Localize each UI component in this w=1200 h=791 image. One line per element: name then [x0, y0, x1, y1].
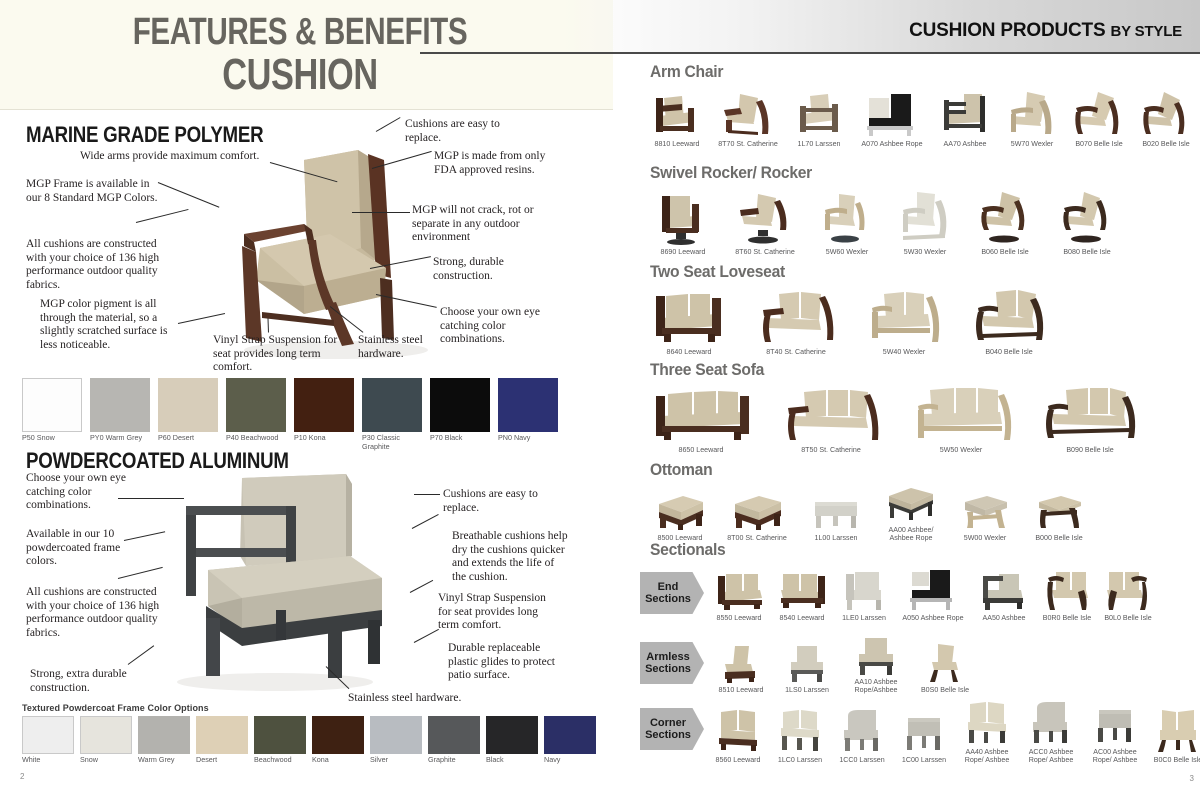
product-aa10-ashbee[interactable]: AA10 Ashbee Rope/Ashbee	[844, 636, 908, 695]
tag-end-sections: End Sections	[640, 572, 704, 614]
product-code: B000 Belle Isle	[1035, 534, 1082, 542]
product-thumbnail	[1138, 90, 1194, 138]
category-title-ottoman: Ottoman	[650, 460, 712, 480]
swatch-silver: Silver	[370, 716, 422, 765]
product-a070-ashbee-rope[interactable]: A070 Ashbee Rope	[854, 90, 930, 148]
product-5w00-wexler[interactable]: 5W00 Wexler	[950, 492, 1020, 542]
product-thumbnail	[717, 644, 765, 684]
product-code: 5W50 Wexler	[940, 446, 982, 454]
swatch-chip	[486, 716, 538, 754]
leader-line	[414, 629, 439, 643]
product-aa00-ashbee[interactable]: AA00 Ashbee/ Ashbee Rope	[876, 484, 946, 543]
swatch-p70-black: P70 Black	[430, 378, 490, 451]
product-thumbnail	[773, 708, 827, 754]
product-thumbnail	[1025, 700, 1077, 746]
product-thumbnail	[957, 492, 1013, 532]
product-thumbnail	[936, 90, 994, 138]
product-thumbnail	[718, 90, 778, 138]
callout-mgp-0: Wide arms provide maximum comfort.	[80, 150, 280, 164]
callout-pc-8: Stainless steel hardware.	[348, 692, 488, 706]
callout-pc-6: Vinyl Strap Suspension for seat provides…	[438, 592, 556, 633]
product-row-arm-chair: 8810 Leeward 8T70 St. Catherine	[644, 90, 1198, 148]
swatch-chip	[362, 378, 422, 432]
category-title-two-seat-loveseat: Two Seat Loveseat	[650, 262, 785, 282]
product-8t50-st-catherine[interactable]: 8T50 St. Catherine	[776, 386, 886, 454]
product-code: 8550 Leeward	[717, 614, 762, 622]
swatch-label: Navy	[544, 756, 596, 765]
swatch-chip	[254, 716, 306, 754]
product-thumbnail	[817, 190, 877, 246]
product-thumbnail	[651, 492, 709, 532]
swatch-navy: Navy	[544, 716, 596, 765]
product-thumbnail	[974, 190, 1036, 246]
leader-line	[410, 580, 433, 593]
swatch-label: Black	[486, 756, 538, 765]
product-thumbnail	[711, 708, 765, 754]
product-code: B090 Belle Isle	[1066, 446, 1113, 454]
product-acc0-ashbee[interactable]: ACC0 Ashbee Rope/ Ashbee	[1020, 700, 1082, 765]
swatch-pn0-navy: PN0 Navy	[498, 378, 558, 451]
product-code: 8690 Leeward	[661, 248, 706, 256]
product-8t00-st-catherine[interactable]: 8T00 St. Catherine	[718, 492, 796, 542]
product-code: B0R0 Belle Isle	[1043, 614, 1092, 622]
product-thumbnail	[773, 568, 831, 612]
mgp-color-swatches: P50 Snow PY0 Warm Grey P60 Desert P40 Be…	[22, 378, 558, 451]
swatch-black: Black	[486, 716, 538, 765]
left-page: FEATURES & BENEFITS CUSHION MARINE GRADE…	[0, 0, 620, 791]
product-thumbnail	[1031, 492, 1087, 532]
powdercoated-aluminum-chair-image	[150, 470, 400, 695]
callout-mgp-6: Cushions are easy to replace.	[405, 118, 535, 145]
product-thumbnail	[968, 288, 1050, 346]
callout-pc-5: Breathable cushions help dry the cushion…	[452, 530, 570, 584]
product-row-corner-sections: 8560 Leeward 1LC0 Larssen	[708, 700, 1200, 765]
product-thumbnail	[1101, 568, 1155, 612]
product-code: AA10 Ashbee Rope/Ashbee	[855, 678, 898, 695]
product-code: 1LC0 Larssen	[778, 756, 822, 764]
product-a050-ashbee-rope[interactable]: A050 Ashbee Rope	[895, 568, 971, 622]
product-row-two-seat-loveseat: 8640 Leeward 8T40 St. Catherine	[646, 288, 1052, 356]
callout-mgp-8: MGP will not crack, rot or separate in a…	[412, 204, 552, 245]
product-code: 8T70 St. Catherine	[718, 140, 778, 148]
swatch-chip	[196, 716, 248, 754]
product-thumbnail	[904, 568, 962, 612]
header-title-sub: BY STYLE	[1111, 23, 1182, 40]
swatch-p40-beachwood: P40 Beachwood	[226, 378, 286, 451]
product-thumbnail	[898, 708, 950, 754]
product-thumbnail	[960, 700, 1014, 746]
product-8t60-st-catherine[interactable]: 8T60 St. Catherine	[724, 190, 806, 256]
product-1lc0-larssen[interactable]: 1LC0 Larssen	[770, 708, 830, 764]
product-8t70-st-catherine[interactable]: 8T70 St. Catherine	[712, 90, 784, 148]
right-page: CUSHION PRODUCTS BY STYLE Arm Chair 8810…	[620, 0, 1200, 791]
product-thumbnail	[908, 386, 1014, 444]
product-8510-leeward[interactable]: 8510 Leeward	[712, 644, 770, 694]
swatch-chip	[312, 716, 364, 754]
swatch-chip	[22, 716, 74, 754]
product-code: 8T60 St. Catherine	[735, 248, 795, 256]
product-code: ACC0 Ashbee Rope/ Ashbee	[1029, 748, 1074, 765]
product-row-three-seat-sofa: 8650 Leeward 8T50 St. Catherine	[646, 386, 1144, 454]
product-5w50-wexler[interactable]: 5W50 Wexler	[906, 386, 1016, 454]
tag-corner-sections: Corner Sections	[640, 708, 704, 750]
leader-line	[352, 212, 410, 213]
swatch-label: Snow	[80, 756, 132, 765]
product-thumbnail	[1040, 568, 1094, 612]
swatch-label: P30 Classic Graphite	[362, 434, 422, 451]
product-5w60-wexler[interactable]: 5W60 Wexler	[810, 190, 884, 256]
swatch-label: Warm Grey	[138, 756, 190, 765]
swatch-label: P40 Beachwood	[226, 434, 286, 443]
product-thumbnail	[1056, 190, 1118, 246]
callout-mgp-7: MGP is made from only FDA approved resin…	[434, 150, 564, 177]
swatch-label: P50 Snow	[22, 434, 82, 443]
powdercoat-color-swatches: White Snow Warm Grey Desert Beachwood Ko…	[22, 716, 596, 765]
callout-pc-4: Cushions are easy to replace.	[443, 488, 553, 515]
product-thumbnail	[648, 386, 754, 444]
product-b060-belle-isle[interactable]: B060 Belle Isle	[966, 190, 1044, 256]
product-thumbnail	[648, 288, 730, 346]
callout-mgp-1: MGP Frame is available in our 8 Standard…	[26, 178, 166, 205]
swatch-chip	[138, 716, 190, 754]
product-thumbnail	[851, 636, 901, 676]
swatch-desert: Desert	[196, 716, 248, 765]
product-thumbnail	[883, 484, 939, 524]
swatch-label: Beachwood	[254, 756, 306, 765]
product-b0s0-belle-isle[interactable]: B0S0 Belle Isle	[916, 644, 974, 694]
product-5w30-wexler[interactable]: 5W30 Wexler	[888, 190, 962, 256]
swatch-graphite: Graphite	[428, 716, 480, 765]
powdercoat-swatch-heading: Textured Powdercoat Frame Color Options	[22, 703, 209, 713]
product-code: 8560 Leeward	[716, 756, 761, 764]
hero-line-2: CUSHION	[66, 52, 534, 98]
product-thumbnail	[1089, 700, 1141, 746]
product-code: 8650 Leeward	[679, 446, 724, 454]
product-thumbnail	[895, 190, 955, 246]
product-code: 5W30 Wexler	[904, 248, 946, 256]
swatch-chip	[544, 716, 596, 754]
product-5w70-wexler[interactable]: 5W70 Wexler	[1000, 90, 1064, 148]
product-code: A050 Ashbee Rope	[902, 614, 963, 622]
swatch-warm-grey: Warm Grey	[138, 716, 190, 765]
product-code: 1C00 Larssen	[902, 756, 946, 764]
product-b0l0-belle-isle[interactable]: B0L0 Belle Isle	[1098, 568, 1158, 622]
swatch-label: PN0 Navy	[498, 434, 558, 443]
swatch-white: White	[22, 716, 74, 765]
product-code: AC00 Ashbee Rope/ Ashbee	[1093, 748, 1138, 765]
product-thumbnail	[837, 568, 891, 612]
swatch-beachwood: Beachwood	[254, 716, 306, 765]
swatch-p10-kona: P10 Kona	[294, 378, 354, 451]
product-thumbnail	[1152, 708, 1200, 754]
product-8500-leeward[interactable]: 8500 Leeward	[646, 492, 714, 542]
callout-mgp-3: MGP color pigment is all through the mat…	[40, 298, 184, 352]
product-code: AA50 Ashbee	[983, 614, 1026, 622]
swatch-chip	[90, 378, 150, 432]
swatch-chip	[294, 378, 354, 432]
product-8540-leeward[interactable]: 8540 Leeward	[771, 568, 833, 622]
product-code: 5W60 Wexler	[826, 248, 868, 256]
swatch-chip	[158, 378, 218, 432]
product-thumbnail	[753, 288, 839, 346]
product-code: 8810 Leeward	[655, 140, 700, 148]
product-b000-belle-isle[interactable]: B000 Belle Isle	[1024, 492, 1094, 542]
leader-line	[136, 209, 189, 223]
callout-mgp-5: Stainless steel hardware.	[358, 334, 428, 361]
page-number-left: 2	[20, 772, 24, 781]
product-code: 1L00 Larssen	[815, 534, 858, 542]
product-8650-leeward[interactable]: 8650 Leeward	[646, 386, 756, 454]
product-thumbnail	[1070, 90, 1128, 138]
product-code: AA00 Ashbee/ Ashbee Rope	[889, 526, 934, 543]
product-thumbnail	[975, 568, 1033, 612]
product-code: B080 Belle Isle	[1063, 248, 1110, 256]
callout-mgp-2: All cushions are constructed with your c…	[26, 238, 172, 292]
product-1c00-larssen[interactable]: 1C00 Larssen	[894, 708, 954, 764]
product-code: 5W40 Wexler	[883, 348, 925, 356]
category-title-sectionals: Sectionals	[650, 540, 725, 560]
product-thumbnail	[862, 288, 946, 346]
product-code: 1CC0 Larssen	[839, 756, 884, 764]
product-1l70-larssen[interactable]: 1L70 Larssen	[786, 90, 852, 148]
product-thumbnail	[783, 644, 831, 684]
product-code: 8640 Leeward	[667, 348, 712, 356]
swatch-label: P10 Kona	[294, 434, 354, 443]
callout-pc-1: Available in our 10 powdercoated frame c…	[26, 528, 146, 569]
product-thumbnail	[836, 708, 888, 754]
swatch-label: Desert	[196, 756, 248, 765]
swatch-label: White	[22, 756, 74, 765]
product-code: B020 Belle Isle	[1142, 140, 1189, 148]
swatch-py0-warm-grey: PY0 Warm Grey	[90, 378, 150, 451]
product-aa70-ashbee[interactable]: AA70 Ashbee	[932, 90, 998, 148]
product-8690-leeward[interactable]: 8690 Leeward	[646, 190, 720, 256]
product-8640-leeward[interactable]: 8640 Leeward	[646, 288, 732, 356]
product-code: 1LE0 Larssen	[842, 614, 886, 622]
leader-line	[414, 494, 440, 495]
product-thumbnail	[861, 90, 923, 138]
product-1le0-larssen[interactable]: 1LE0 Larssen	[834, 568, 894, 622]
product-code: 5W00 Wexler	[964, 534, 1006, 542]
swatch-snow: Snow	[80, 716, 132, 765]
header-title: CUSHION PRODUCTS BY STYLE	[909, 20, 1182, 42]
product-thumbnail	[727, 492, 787, 532]
product-thumbnail	[778, 386, 884, 444]
category-title-three-seat-sofa: Three Seat Sofa	[650, 360, 764, 380]
callout-pc-0: Choose your own eye catching color combi…	[26, 472, 146, 513]
product-code: 8510 Leeward	[719, 686, 764, 694]
swatch-label: Graphite	[428, 756, 480, 765]
product-code: B060 Belle Isle	[981, 248, 1028, 256]
product-code: B0S0 Belle Isle	[921, 686, 969, 694]
product-b070-belle-isle[interactable]: B070 Belle Isle	[1066, 90, 1132, 148]
callout-pc-2: All cushions are constructed with your c…	[26, 586, 166, 640]
product-thumbnail	[790, 90, 848, 138]
product-code: AA40 Ashbee Rope/ Ashbee	[965, 748, 1010, 765]
category-title-arm-chair: Arm Chair	[650, 62, 723, 82]
product-8550-leeward[interactable]: 8550 Leeward	[708, 568, 770, 622]
leader-line	[412, 514, 439, 529]
swatch-label: P60 Desert	[158, 434, 218, 443]
swatch-p30-classic-graphite: P30 Classic Graphite	[362, 378, 422, 451]
product-aa50-ashbee[interactable]: AA50 Ashbee	[972, 568, 1036, 622]
swatch-label: Silver	[370, 756, 422, 765]
callout-mgp-4: Vinyl Strap Suspension for seat provides…	[213, 334, 353, 375]
swatch-chip	[80, 716, 132, 754]
product-5w40-wexler[interactable]: 5W40 Wexler	[860, 288, 948, 356]
product-code: AA70 Ashbee	[944, 140, 987, 148]
product-b080-belle-isle[interactable]: B080 Belle Isle	[1048, 190, 1126, 256]
swatch-label: PY0 Warm Grey	[90, 434, 150, 443]
callout-mgp-10: Choose your own eye catching color combi…	[440, 306, 550, 347]
product-8810-leeward[interactable]: 8810 Leeward	[644, 90, 710, 148]
product-ac00-ashbee[interactable]: AC00 Ashbee Rope/ Ashbee	[1084, 700, 1146, 765]
leader-line	[118, 498, 184, 499]
swatch-chip	[498, 378, 558, 432]
swatch-chip	[370, 716, 422, 754]
product-row-armless-sections: 8510 Leeward 1LS0 Larssen	[712, 636, 974, 695]
product-1l00-larssen[interactable]: 1L00 Larssen	[800, 492, 872, 542]
catalog-spread: FEATURES & BENEFITS CUSHION MARINE GRADE…	[0, 0, 1200, 791]
product-code: B040 Belle Isle	[985, 348, 1032, 356]
product-row-end-sections: 8550 Leeward 8540 Leeward	[708, 568, 1158, 622]
product-thumbnail	[922, 644, 968, 684]
product-code: B070 Belle Isle	[1075, 140, 1122, 148]
swatch-label: Kona	[312, 756, 364, 765]
swatch-kona: Kona	[312, 716, 364, 765]
product-code: 1L70 Larssen	[798, 140, 841, 148]
product-code: 1LS0 Larssen	[785, 686, 829, 694]
product-thumbnail	[807, 492, 865, 532]
swatch-chip	[226, 378, 286, 432]
product-code: 5W70 Wexler	[1011, 140, 1053, 148]
header-title-main: CUSHION PRODUCTS	[909, 20, 1105, 41]
swatch-chip	[430, 378, 490, 432]
product-code: 8T50 St. Catherine	[801, 446, 861, 454]
product-b020-belle-isle[interactable]: B020 Belle Isle	[1134, 90, 1198, 148]
product-thumbnail	[1003, 90, 1061, 138]
product-8560-leeward[interactable]: 8560 Leeward	[708, 708, 768, 764]
tag-armless-sections: Armless Sections	[640, 642, 704, 684]
product-row-ottoman: 8500 Leeward 8T00 St. Catherine	[646, 484, 1094, 543]
callout-pc-3: Strong, extra durable construction.	[30, 668, 150, 695]
product-1ls0-larssen[interactable]: 1LS0 Larssen	[778, 644, 836, 694]
product-row-swivel-rocker: 8690 Leeward 8T60 St. Catherine	[646, 190, 1126, 256]
callout-pc-7: Durable replaceable plastic glides to pr…	[448, 642, 566, 683]
product-thumbnail	[710, 568, 768, 612]
product-thumbnail	[1038, 386, 1142, 444]
product-b0c0-belle-isle[interactable]: B0C0 Belle Isle	[1148, 708, 1200, 764]
swatch-label: P70 Black	[430, 434, 490, 443]
product-b090-belle-isle[interactable]: B090 Belle Isle	[1036, 386, 1144, 454]
product-code: B0C0 Belle Isle	[1154, 756, 1200, 764]
swatch-p50-snow: P50 Snow	[22, 378, 82, 451]
product-thumbnail	[648, 90, 706, 138]
product-code: B0L0 Belle Isle	[1104, 614, 1151, 622]
product-b0r0-belle-isle[interactable]: B0R0 Belle Isle	[1037, 568, 1097, 622]
product-code: 8T00 St. Catherine	[727, 534, 787, 542]
product-aa40-ashbee[interactable]: AA40 Ashbee Rope/ Ashbee	[956, 700, 1018, 765]
product-code: 8T40 St. Catherine	[766, 348, 826, 356]
product-8t40-st-catherine[interactable]: 8T40 St. Catherine	[750, 288, 842, 356]
product-code: 8540 Leeward	[780, 614, 825, 622]
page-number-right: 3	[1190, 774, 1194, 783]
product-b040-belle-isle[interactable]: B040 Belle Isle	[966, 288, 1052, 356]
product-thumbnail	[652, 190, 714, 246]
product-1cc0-larssen[interactable]: 1CC0 Larssen	[832, 708, 892, 764]
swatch-p60-desert: P60 Desert	[158, 378, 218, 451]
product-code: A070 Ashbee Rope	[861, 140, 922, 148]
callout-mgp-9: Strong, durable construction.	[433, 256, 543, 283]
product-thumbnail	[732, 190, 798, 246]
swatch-chip	[22, 378, 82, 432]
category-title-swivel-rocker: Swivel Rocker/ Rocker	[650, 163, 812, 183]
swatch-chip	[428, 716, 480, 754]
